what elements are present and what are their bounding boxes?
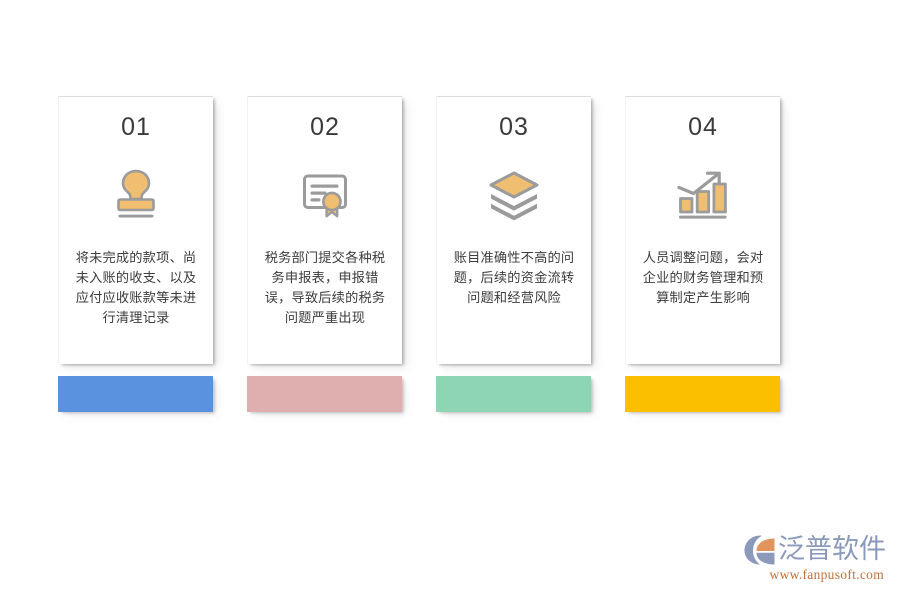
cards-row: 01 将未完成的款项、尚未入账的收支、以及应付应收账款等未进行清理记录 02 [58,96,848,416]
logo-row: 泛普软件 [736,532,886,568]
card-color-bar [58,376,213,412]
card-number: 02 [310,115,340,140]
fanpu-swoosh-logo-icon [743,534,777,566]
card-panel: 02 税务部门提交各种税务申报表，申报错误，导致后续的税务问题严重出现 [247,96,402,364]
card-description: 账目准确性不高的问题，后续的资金流转问题和经营风险 [448,248,580,308]
card-color-bar [436,376,591,412]
brand-logo: 泛普软件 www.fanpusoft.com [736,532,886,590]
layers-icon [485,162,543,224]
card-description: 税务部门提交各种税务申报表，申报错误，导致后续的税务问题严重出现 [259,248,391,328]
info-card-04[interactable]: 04 人员调整问题，会对企业的财务管理和预算制定产生影响 [625,96,780,416]
card-number: 03 [499,115,529,140]
bar-chart-growth-icon [673,162,733,224]
logo-website-url: www.fanpusoft.com [736,567,886,583]
card-color-bar [625,376,780,412]
card-number: 04 [688,115,718,140]
card-panel: 03 账目准确性不高的问题，后续的资金流转问题和经营风险 [436,96,591,364]
card-description: 将未完成的款项、尚未入账的收支、以及应付应收账款等未进行清理记录 [70,248,202,328]
card-number: 01 [121,115,151,140]
card-color-bar [247,376,402,412]
info-card-03[interactable]: 03 账目准确性不高的问题，后续的资金流转问题和经营风险 [436,96,591,416]
card-panel: 01 将未完成的款项、尚未入账的收支、以及应付应收账款等未进行清理记录 [58,96,213,364]
logo-brand-name: 泛普软件 [778,535,886,565]
stamp-icon [107,162,165,224]
certificate-icon [296,162,354,224]
card-description: 人员调整问题，会对企业的财务管理和预算制定产生影响 [637,248,769,308]
infographic-container: 01 将未完成的款项、尚未入账的收支、以及应付应收账款等未进行清理记录 02 [0,0,900,600]
info-card-01[interactable]: 01 将未完成的款项、尚未入账的收支、以及应付应收账款等未进行清理记录 [58,96,213,416]
card-panel: 04 人员调整问题，会对企业的财务管理和预算制定产生影响 [625,96,780,364]
info-card-02[interactable]: 02 税务部门提交各种税务申报表，申报错误，导致后续的税务问题严重出现 [247,96,402,416]
